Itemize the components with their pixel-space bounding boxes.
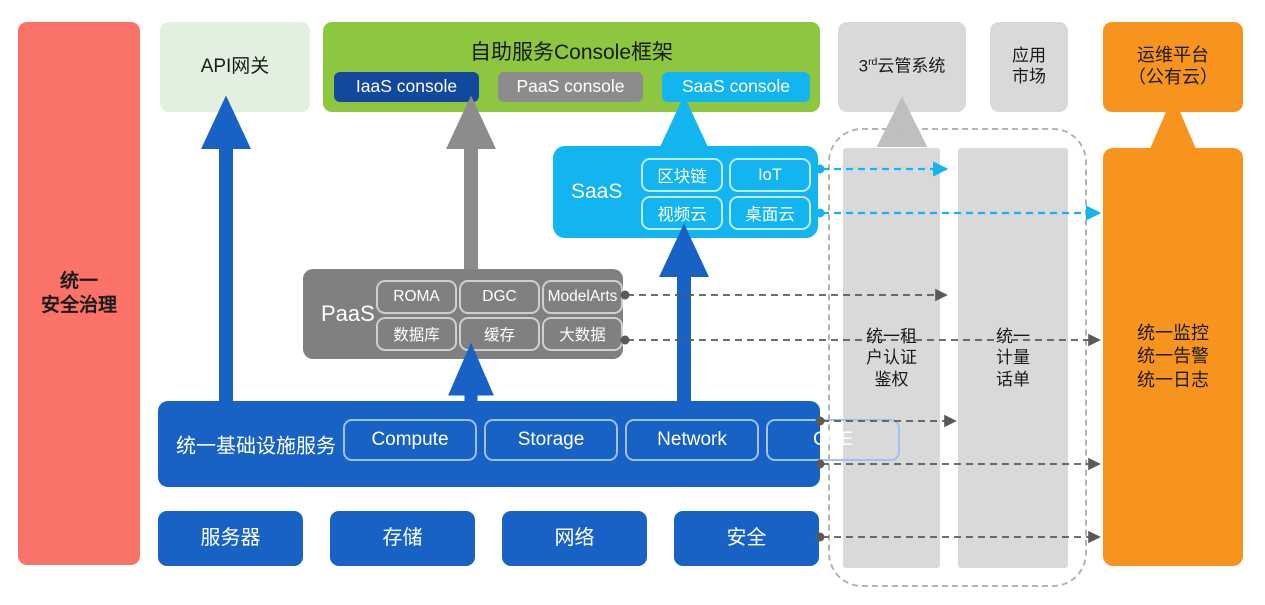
panel-unified-security-governance[interactable]: 统一 安全治理: [18, 22, 140, 565]
saas-item-desktop-cloud-label: 桌面云: [745, 201, 795, 225]
third-party-text: 3rd云管系统: [859, 56, 946, 77]
monitoring-line-2: 统一告警: [1137, 345, 1209, 368]
security-line-1: 统一: [41, 270, 117, 293]
saas-item-iot[interactable]: IoT: [729, 158, 811, 192]
architecture-diagram: 统一 安全治理 API网关 自助服务Console框架 IaaS console…: [0, 0, 1265, 605]
unified-monitoring-text: 统一监控 统一告警 统一日志: [1137, 322, 1209, 392]
paas-item-bigdata[interactable]: 大数据: [542, 317, 623, 351]
panel-console-framework[interactable]: 自助服务Console框架 IaaS console PaaS console …: [323, 22, 820, 112]
arrow-paas-to-console-framework: [457, 112, 485, 269]
console-framework-title: 自助服务Console框架: [323, 40, 820, 66]
ops-platform-top-line-2: （公有云）: [1128, 67, 1218, 89]
arrow-infra-to-paas: [458, 359, 484, 401]
saas-item-blockchain[interactable]: 区块链: [641, 158, 723, 192]
ops-platform-top-text: 运维平台 （公有云）: [1128, 45, 1218, 89]
infra-item-storage-label: Storage: [518, 429, 585, 451]
arrow-monitoring-to-ops-platform: [1160, 112, 1186, 148]
security-line-2: 安全治理: [41, 294, 117, 317]
paas-item-roma-label: ROMA: [393, 288, 440, 306]
third-party-superscript: rd: [868, 56, 877, 68]
panel-unified-monitoring[interactable]: 统一监控 统一告警 统一日志: [1103, 148, 1243, 566]
third-party-prefix: 3: [859, 57, 868, 76]
paas-item-database[interactable]: 数据库: [376, 317, 457, 351]
arrow-infra-to-api-gateway: [212, 112, 240, 401]
arrow-saas-to-console-framework: [670, 112, 698, 146]
app-market-text: 应用 市场: [1012, 46, 1046, 87]
button-paas-console[interactable]: PaaS console: [498, 72, 643, 102]
infra-item-network[interactable]: Network: [625, 419, 759, 461]
infra-item-network-label: Network: [657, 429, 727, 451]
saas-label: SaaS: [571, 180, 622, 204]
saas-item-iot-label: IoT: [758, 166, 782, 185]
arrow-infra-to-saas: [670, 240, 698, 401]
panel-ops-platform-public-cloud[interactable]: 运维平台 （公有云）: [1103, 22, 1243, 112]
security-panel-text: 统一 安全治理: [41, 270, 117, 316]
button-iaas-console[interactable]: IaaS console: [334, 72, 479, 102]
tenant-auth-line-3: 鉴权: [866, 369, 917, 390]
tenant-auth-line-2: 户认证: [866, 347, 917, 368]
saas-item-video-cloud-label: 视频云: [657, 201, 707, 225]
saas-item-desktop-cloud[interactable]: 桌面云: [729, 196, 811, 230]
column-unified-tenant-auth[interactable]: 统一租 户认证 鉴权: [843, 148, 940, 568]
paas-item-modelarts[interactable]: ModelArts: [542, 280, 623, 314]
api-gateway-label: API网关: [201, 55, 270, 78]
paas-item-dgc-label: DGC: [482, 288, 516, 306]
monitoring-line-3: 统一日志: [1137, 369, 1209, 392]
panel-api-gateway[interactable]: API网关: [160, 22, 310, 112]
panel-hardware-server[interactable]: 服务器: [158, 511, 303, 566]
hardware-network-label: 网络: [555, 526, 595, 550]
paas-item-cache-label: 缓存: [484, 323, 515, 345]
app-market-line-1: 应用: [1012, 46, 1046, 67]
metering-line-3: 话单: [996, 369, 1030, 390]
panel-paas[interactable]: PaaS ROMA DGC ModelArts 数据库 缓存 大数据: [303, 269, 623, 359]
infra-item-cce[interactable]: CCE: [766, 419, 900, 461]
paas-item-dgc[interactable]: DGC: [459, 280, 540, 314]
panel-saas[interactable]: SaaS 区块链 IoT 视频云 桌面云: [553, 146, 818, 238]
panel-unified-infrastructure[interactable]: 统一基础设施服务 Compute Storage Network CCE: [158, 401, 820, 487]
panel-hardware-network[interactable]: 网络: [502, 511, 647, 566]
panel-hardware-storage[interactable]: 存储: [330, 511, 475, 566]
hardware-server-label: 服务器: [201, 526, 261, 550]
paas-item-modelarts-label: ModelArts: [548, 288, 618, 306]
unified-metering-text: 统一 计量 话单: [996, 326, 1030, 390]
paas-console-label: PaaS console: [517, 76, 625, 97]
panel-hardware-security[interactable]: 安全: [674, 511, 819, 566]
paas-item-cache[interactable]: 缓存: [459, 317, 540, 351]
third-party-suffix: 云管系统: [877, 57, 945, 76]
saas-item-blockchain-label: 区块链: [657, 163, 707, 187]
saas-console-label: SaaS console: [682, 76, 790, 97]
button-saas-console[interactable]: SaaS console: [662, 72, 810, 102]
infra-item-compute-label: Compute: [371, 429, 448, 451]
panel-app-market[interactable]: 应用 市场: [990, 22, 1068, 112]
paas-item-database-label: 数据库: [393, 323, 440, 345]
infra-item-compute[interactable]: Compute: [343, 419, 477, 461]
infra-item-storage[interactable]: Storage: [484, 419, 618, 461]
unified-tenant-auth-text: 统一租 户认证 鉴权: [866, 326, 917, 390]
saas-item-video-cloud[interactable]: 视频云: [641, 196, 723, 230]
ops-platform-top-line-1: 运维平台: [1128, 45, 1218, 67]
infrastructure-label: 统一基础设施服务: [176, 430, 336, 459]
paas-item-roma[interactable]: ROMA: [376, 280, 457, 314]
metering-line-2: 计量: [996, 347, 1030, 368]
iaas-console-label: IaaS console: [356, 76, 457, 97]
hardware-storage-label: 存储: [383, 526, 423, 550]
tenant-auth-line-1: 统一租: [866, 326, 917, 347]
infra-item-cce-label: CCE: [813, 429, 853, 451]
column-unified-metering-billing[interactable]: 统一 计量 话单: [958, 148, 1068, 568]
metering-line-1: 统一: [996, 326, 1030, 347]
paas-label: PaaS: [321, 301, 375, 327]
monitoring-line-1: 统一监控: [1137, 322, 1209, 345]
hardware-security-label: 安全: [727, 526, 767, 550]
app-market-line-2: 市场: [1012, 67, 1046, 88]
panel-third-party-cloud-management[interactable]: 3rd云管系统: [838, 22, 966, 112]
paas-item-bigdata-label: 大数据: [559, 323, 606, 345]
